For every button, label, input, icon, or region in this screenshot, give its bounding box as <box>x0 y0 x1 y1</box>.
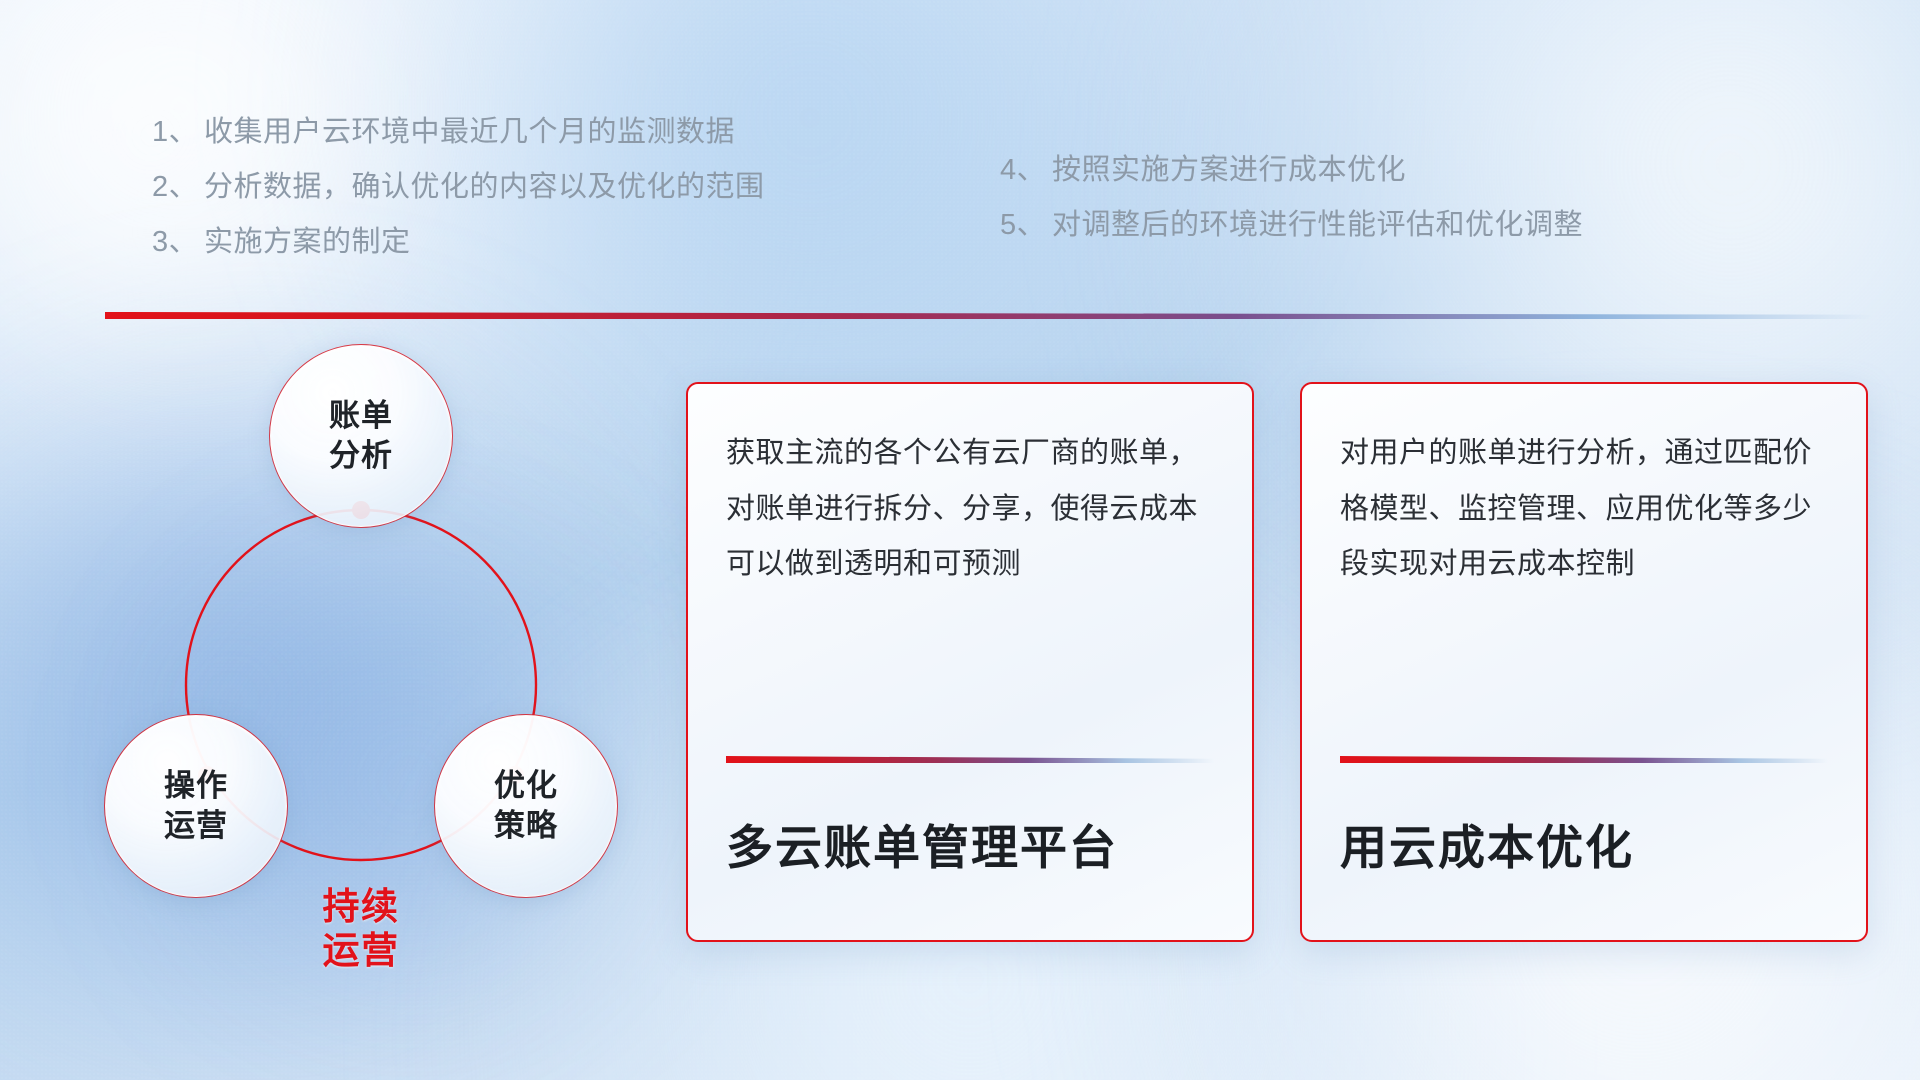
card-cloud-cost-optimization[interactable]: 对用户的账单进行分析，通过匹配价格模型、监控管理、应用优化等多少段实现对用云成本… <box>1300 382 1868 942</box>
lobe-label-line1: 账单 <box>329 396 393 436</box>
lobe-label-line2: 策略 <box>494 806 558 846</box>
list-item: 4、 按照实施方案进行成本优化 <box>1000 156 1583 185</box>
steps-list-right: 4、 按照实施方案进行成本优化 5、 对调整后的环境进行性能评估和优化调整 <box>1000 156 1583 266</box>
card-title: 用云成本优化 <box>1340 763 1828 940</box>
lobe-label-line2: 分析 <box>329 436 393 476</box>
card-accent-rule <box>1340 756 1828 763</box>
center-label-line2: 运营 <box>270 929 452 973</box>
diagram-lobe-optimization-strategy[interactable]: 优化 策略 <box>435 715 617 897</box>
list-item: 2、 分析数据，确认优化的内容以及优化的范围 <box>152 173 765 202</box>
card-accent-rule <box>726 756 1214 763</box>
step-number: 2、 <box>152 173 204 202</box>
steps-list-left: 1、 收集用户云环境中最近几个月的监测数据 2、 分析数据，确认优化的内容以及优… <box>152 118 765 283</box>
lobe-label: 账单 分析 <box>329 396 393 475</box>
card-title: 多云账单管理平台 <box>726 763 1214 940</box>
lobe-label-line1: 优化 <box>494 766 558 806</box>
continuous-operation-diagram: 账单 分析 操作 运营 优化 策略 持续 运营 <box>95 345 655 945</box>
list-item: 3、 实施方案的制定 <box>152 228 765 257</box>
step-text: 实施方案的制定 <box>204 228 411 257</box>
diagram-center-label: 持续 运营 <box>270 885 452 974</box>
step-number: 5、 <box>1000 211 1052 240</box>
step-text: 分析数据，确认优化的内容以及优化的范围 <box>204 173 765 202</box>
card-body-text: 对用户的账单进行分析，通过匹配价格模型、监控管理、应用优化等多少段实现对用云成本… <box>1340 426 1828 593</box>
step-text: 对调整后的环境进行性能评估和优化调整 <box>1052 211 1583 240</box>
card-multicloud-billing-platform[interactable]: 获取主流的各个公有云厂商的账单，对账单进行拆分、分享，使得云成本可以做到透明和可… <box>686 382 1254 942</box>
list-item: 5、 对调整后的环境进行性能评估和优化调整 <box>1000 211 1583 240</box>
step-number: 1、 <box>152 118 204 147</box>
diagram-lobe-operations[interactable]: 操作 运营 <box>105 715 287 897</box>
lobe-label: 优化 策略 <box>494 766 558 845</box>
step-number: 3、 <box>152 228 204 257</box>
diagram-lobe-bill-analysis[interactable]: 账单 分析 <box>270 345 452 527</box>
lobe-label: 操作 运营 <box>164 766 228 845</box>
lobe-label-line2: 运营 <box>164 806 228 846</box>
step-text: 收集用户云环境中最近几个月的监测数据 <box>204 118 735 147</box>
card-body-text: 获取主流的各个公有云厂商的账单，对账单进行拆分、分享，使得云成本可以做到透明和可… <box>726 426 1214 593</box>
center-label-line1: 持续 <box>270 885 452 929</box>
step-number: 4、 <box>1000 156 1052 185</box>
list-item: 1、 收集用户云环境中最近几个月的监测数据 <box>152 118 765 147</box>
lobe-label-line1: 操作 <box>164 766 228 806</box>
step-text: 按照实施方案进行成本优化 <box>1052 156 1406 185</box>
